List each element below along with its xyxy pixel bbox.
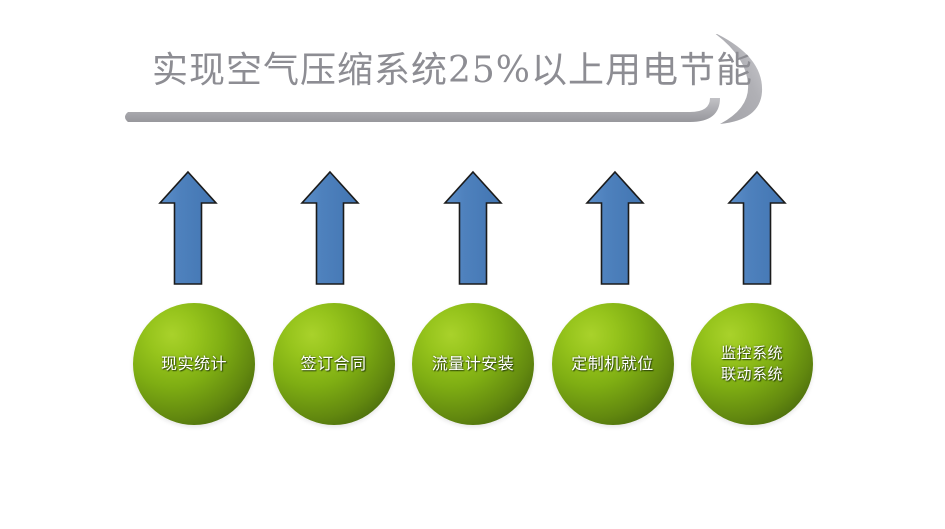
- slide-canvas: 实现空气压缩系统25%以上用电节能 现实统计: [0, 0, 945, 529]
- step-circle-5[interactable]: 监控系统 联动系统: [691, 303, 813, 425]
- arrow-up-icon-1: [160, 172, 216, 284]
- step-label-2: 签订合同: [296, 353, 370, 375]
- step-label-5: 监控系统 联动系统: [717, 343, 787, 385]
- page-title: 实现空气压缩系统25%以上用电节能: [152, 40, 752, 102]
- step-circle-1[interactable]: 现实统计: [133, 303, 255, 425]
- arrow-up-icon-5: [729, 172, 785, 284]
- step-label-3: 流量计安装: [428, 353, 519, 375]
- arrow-up-icon-2: [302, 172, 358, 284]
- arrow-up-icon-4: [587, 172, 643, 284]
- step-label-1: 现实统计: [157, 353, 231, 375]
- step-circle-3[interactable]: 流量计安装: [412, 303, 534, 425]
- step-circle-row: 现实统计 签订合同 流量计安装 定制机就位 监控系统 联动系统: [133, 302, 813, 426]
- arrow-up-icon-3: [445, 172, 501, 284]
- step-circle-2[interactable]: 签订合同: [273, 303, 395, 425]
- step-circle-4[interactable]: 定制机就位: [552, 303, 674, 425]
- step-label-4: 定制机就位: [567, 353, 658, 375]
- title-banner: 实现空气压缩系统25%以上用电节能: [124, 34, 769, 132]
